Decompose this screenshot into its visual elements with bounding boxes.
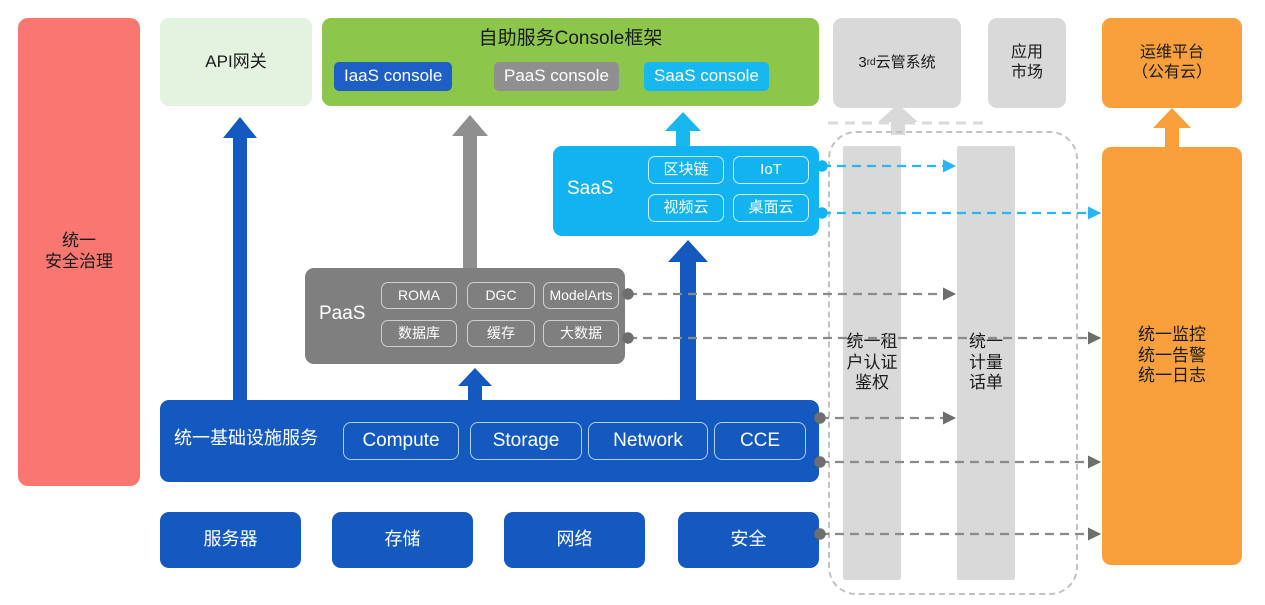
paas-layer-block[interactable]: PaaS ROMA DGC ModelArts 数据库 缓存 大数据	[305, 268, 625, 364]
saas-item-video-cloud[interactable]: 视频云	[648, 194, 724, 222]
third-cloud-label-suffix: 云管系统	[876, 54, 936, 72]
paas-item-cache[interactable]: 缓存	[467, 320, 535, 347]
arrow-saas-to-console	[665, 112, 701, 146]
iaas-console-chip[interactable]: IaaS console	[334, 62, 452, 91]
infra-item-network[interactable]: Network	[588, 422, 708, 460]
saas-layer-block[interactable]: SaaS 区块链 IoT 视频云 桌面云	[553, 146, 819, 236]
paas-item-dgc[interactable]: DGC	[467, 282, 535, 309]
third-party-cloud-management-box[interactable]: 3rd云管系统	[833, 18, 961, 108]
arrow-paas-to-console	[452, 115, 488, 268]
infra-item-compute[interactable]: Compute	[343, 422, 459, 460]
resource-box-security[interactable]: 安全	[678, 512, 819, 568]
paas-item-modelarts[interactable]: ModelArts	[543, 282, 619, 309]
infrastructure-label: 统一基础设施服务	[174, 428, 318, 450]
console-frame-title: 自助服务Console框架	[322, 27, 819, 50]
unified-monitoring-alarm-log-column[interactable]: 统一监控 统一告警 统一日志	[1102, 147, 1242, 565]
app-market-box[interactable]: 应用 市场	[988, 18, 1066, 108]
unified-tenant-auth-column[interactable]: 统一租 户认证 鉴权	[843, 146, 901, 580]
self-service-console-frame[interactable]: 自助服务Console框架 IaaS console PaaS console …	[322, 18, 819, 106]
arrow-infra-to-paas	[458, 368, 492, 400]
unified-infrastructure-service-bar[interactable]: 统一基础设施服务 Compute Storage Network CCE	[160, 400, 819, 482]
api-gateway-box[interactable]: API网关	[160, 18, 312, 106]
ops-platform-public-cloud-box[interactable]: 运维平台 （公有云）	[1102, 18, 1242, 108]
saas-item-iot[interactable]: IoT	[733, 156, 809, 184]
arrow-ops-column-to-ops-top	[1153, 108, 1191, 147]
architecture-diagram: 统一 安全治理 API网关 自助服务Console框架 IaaS console…	[0, 0, 1265, 605]
paas-console-chip[interactable]: PaaS console	[494, 62, 619, 91]
arrow-infra-to-api-gateway	[223, 117, 257, 400]
paas-item-bigdata[interactable]: 大数据	[543, 320, 619, 347]
third-cloud-label-prefix: 3	[858, 54, 866, 72]
infra-item-cce[interactable]: CCE	[714, 422, 806, 460]
saas-item-blockchain[interactable]: 区块链	[648, 156, 724, 184]
third-cloud-label-sup: rd	[867, 57, 876, 69]
saas-item-desktop-cloud[interactable]: 桌面云	[733, 194, 809, 222]
infra-item-storage[interactable]: Storage	[470, 422, 582, 460]
resource-box-server[interactable]: 服务器	[160, 512, 301, 568]
saas-layer-label: SaaS	[567, 177, 613, 200]
arrow-infra-to-saas	[668, 240, 708, 400]
saas-console-chip[interactable]: SaaS console	[644, 62, 769, 91]
unified-metering-billing-column[interactable]: 统一 计量 话单	[957, 146, 1015, 580]
resource-box-storage[interactable]: 存储	[332, 512, 473, 568]
paas-layer-label: PaaS	[319, 302, 365, 325]
resource-box-network[interactable]: 网络	[504, 512, 645, 568]
unified-security-governance-column[interactable]: 统一 安全治理	[18, 18, 140, 486]
paas-item-database[interactable]: 数据库	[381, 320, 457, 347]
paas-item-roma[interactable]: ROMA	[381, 282, 457, 309]
